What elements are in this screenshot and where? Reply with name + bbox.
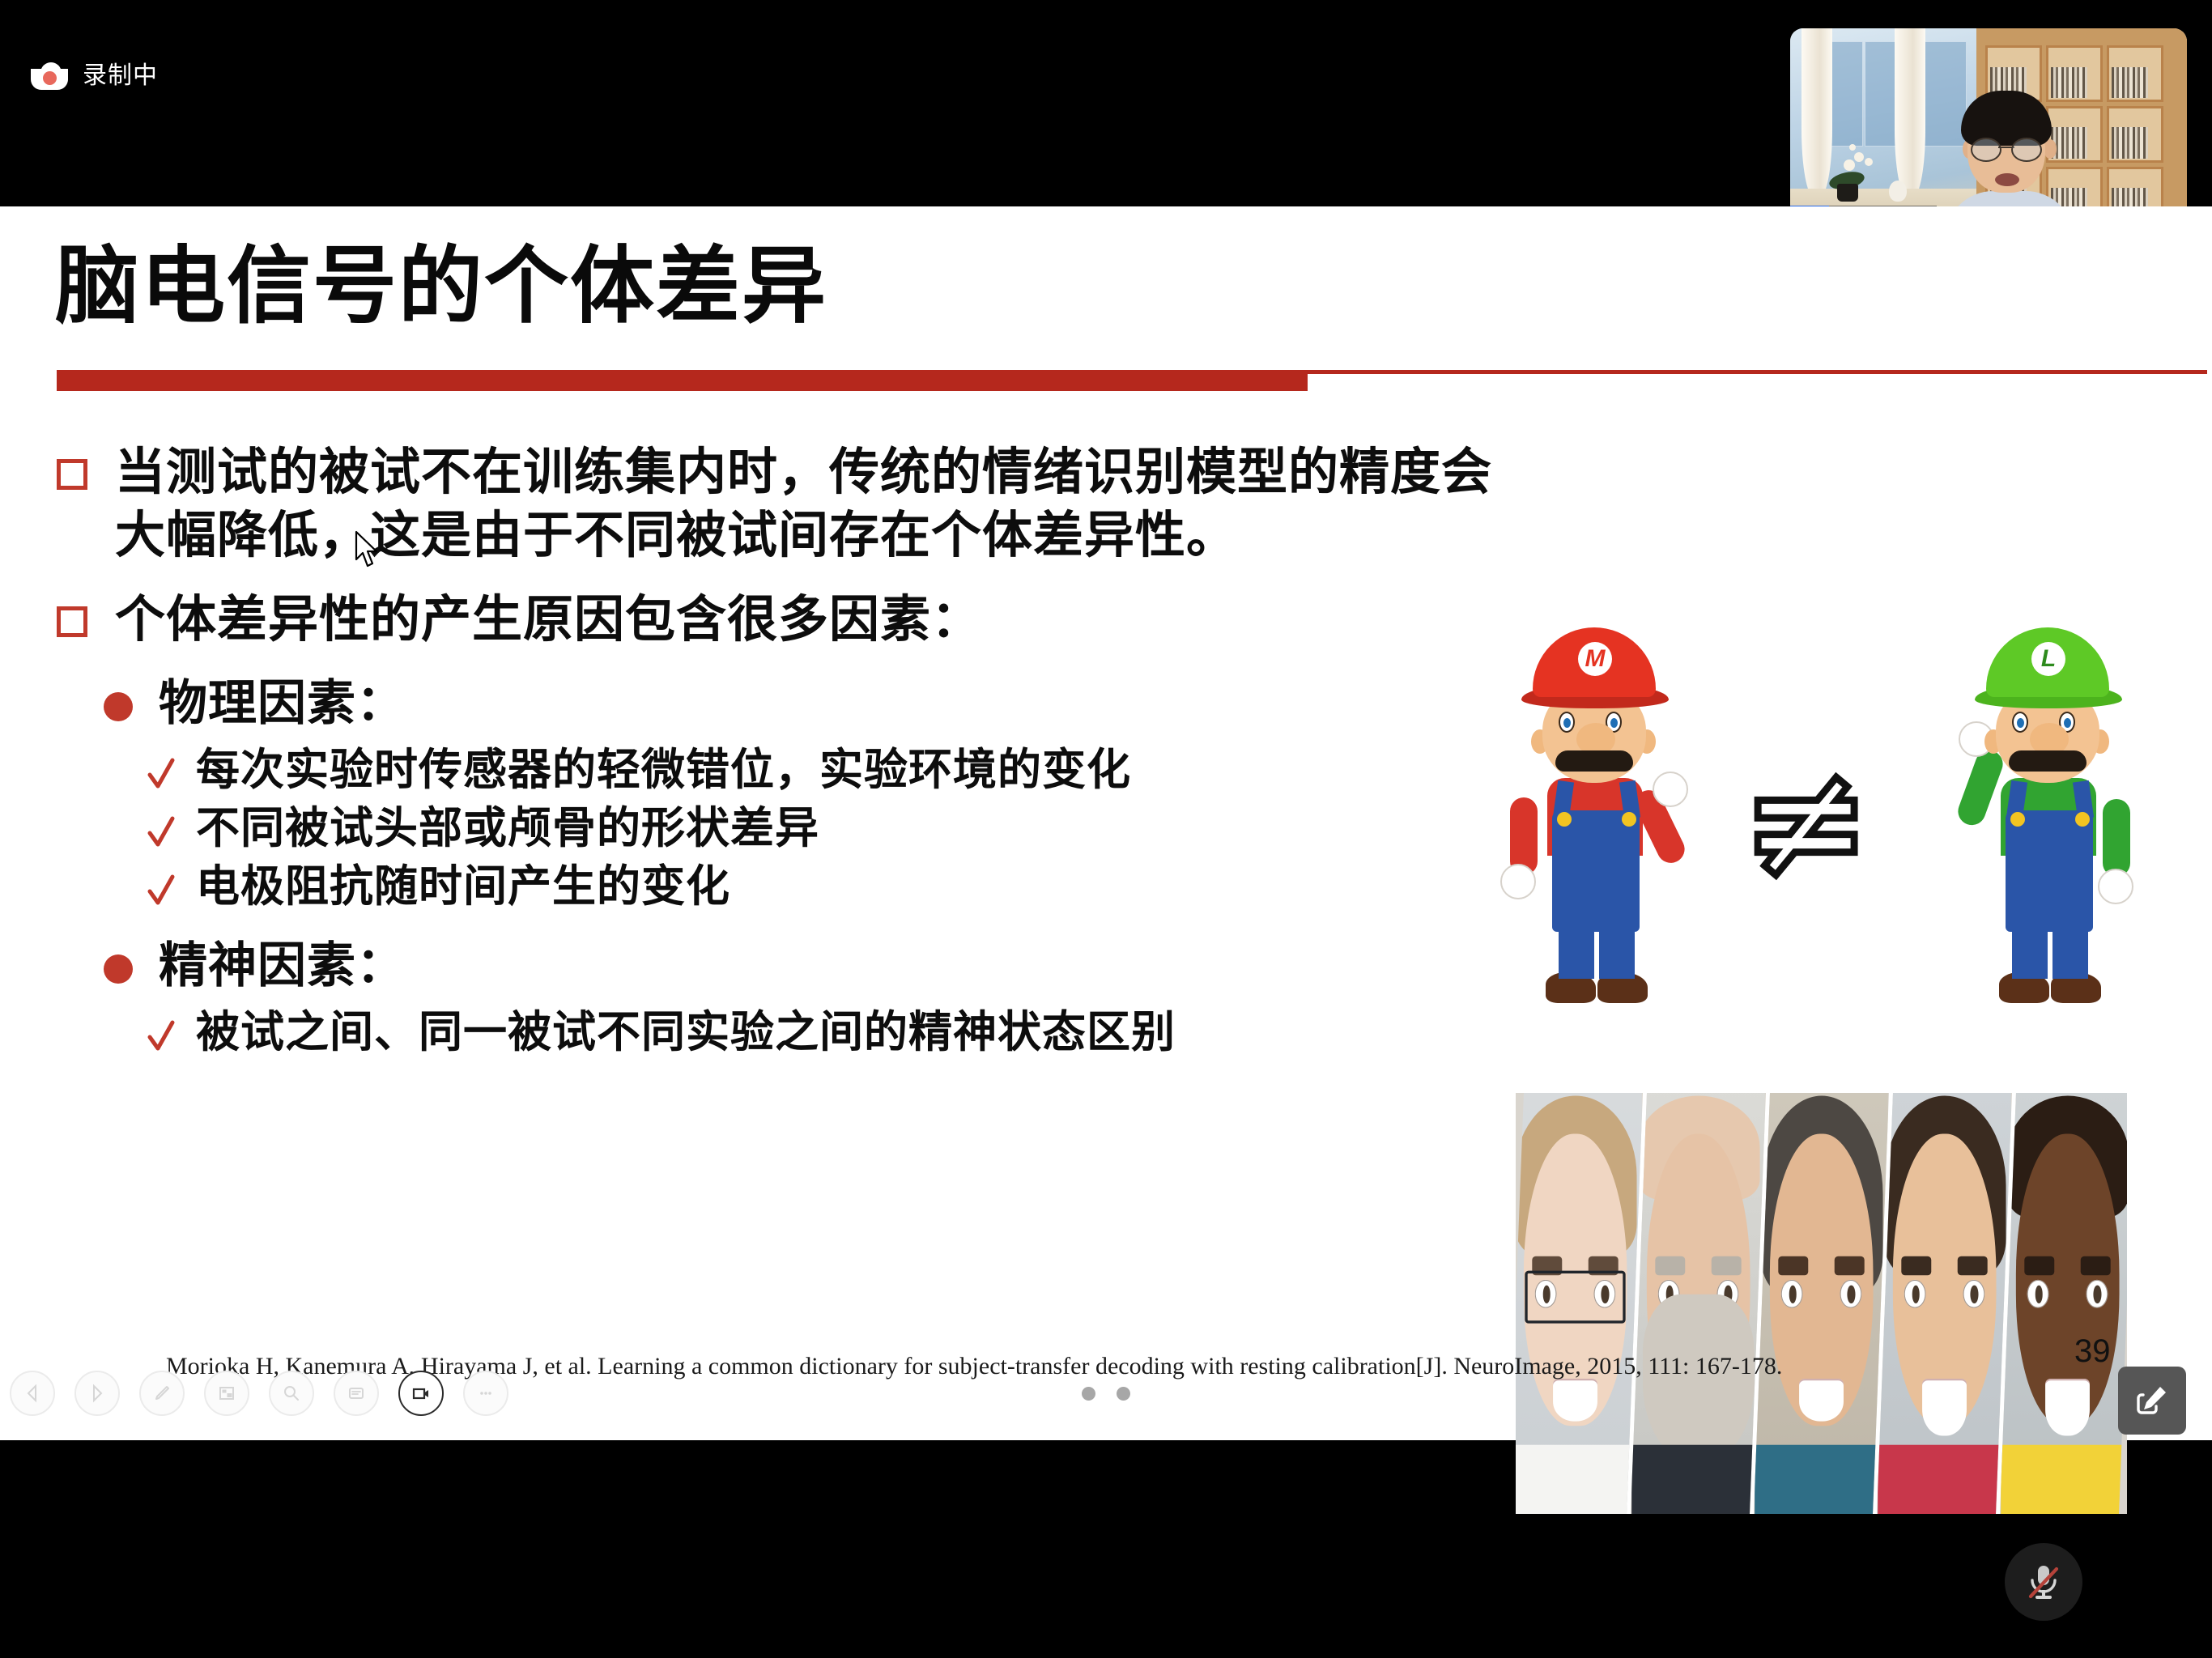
bullet-text: 精神因素：	[159, 937, 406, 995]
title-underline-thin	[1308, 370, 2207, 374]
recording-label: 录制中	[83, 64, 158, 88]
bullet-item-level3: 不同被试头部或颅骨的形状差异	[147, 802, 1506, 856]
pen-tool-button[interactable]	[139, 1371, 185, 1416]
next-slide-button[interactable]	[74, 1371, 120, 1416]
hollow-square-bullet-icon	[57, 459, 87, 490]
annotate-button[interactable]	[2118, 1367, 2186, 1435]
bullet-item-level3: 每次实验时传感器的轻微错位，实验环境的变化	[147, 744, 1506, 797]
face-panel	[1516, 1093, 1647, 1514]
slide-toolbar	[0, 1364, 2212, 1435]
bullet-text: 被试之间、同一被试不同实验之间的精神状态区别	[196, 1006, 1176, 1060]
slide-grid-button[interactable]	[204, 1371, 249, 1416]
check-bullet-icon	[147, 872, 175, 909]
notes-button[interactable]	[334, 1371, 379, 1416]
title-underline-thick	[57, 370, 1308, 391]
bullet-item-level1: 当测试的被试不在训练集内时，传统的情绪识别模型的精度会大幅降低，这是由于不同被试…	[57, 441, 1506, 568]
bullet-item-level3: 被试之间、同一被试不同实验之间的精神状态区别	[147, 1006, 1506, 1060]
page-dot[interactable]	[1082, 1387, 1095, 1401]
bullet-text: 物理因素：	[159, 674, 406, 733]
previous-slide-button[interactable]	[10, 1371, 55, 1416]
face-panel	[1754, 1093, 1893, 1514]
face-panel	[1631, 1093, 1770, 1514]
check-bullet-icon	[147, 814, 175, 851]
filled-circle-bullet-icon	[104, 954, 133, 984]
recording-indicator: 录制中	[31, 58, 158, 94]
cloud-record-icon	[31, 62, 68, 90]
not-equal-symbol: ≠	[1742, 745, 1870, 899]
bullet-text: 每次实验时传感器的轻微错位，实验环境的变化	[196, 744, 1131, 797]
bullet-item-level2: 物理因素：	[104, 674, 1506, 733]
zoom-button[interactable]	[269, 1371, 314, 1416]
slide-page-indicator[interactable]	[1082, 1387, 1130, 1401]
hollow-square-bullet-icon	[57, 606, 87, 637]
luigi-figure: L	[1955, 627, 2142, 1008]
page-dot[interactable]	[1117, 1387, 1130, 1401]
bullet-item-level1: 个体差异性的产生原因包含很多因素：	[57, 589, 1506, 652]
filled-circle-bullet-icon	[104, 692, 133, 721]
bullet-item-level3: 电极阻抗随时间产生的变化	[147, 861, 1506, 914]
more-options-button[interactable]	[463, 1371, 508, 1416]
face-panel	[1877, 1093, 2016, 1514]
page-title: 脑电信号的个体差异	[55, 240, 827, 333]
bullet-text: 个体差异性的产生原因包含很多因素：	[115, 589, 982, 652]
presentation-slide: 脑电信号的个体差异 当测试的被试不在训练集内时，传统的情绪识别模型的精度会大幅降…	[0, 206, 2212, 1440]
mario-cap-emblem: M	[1578, 642, 1612, 676]
bullet-text: 电极阻抗随时间产生的变化	[196, 861, 730, 914]
luigi-cap-emblem: L	[2031, 642, 2065, 676]
slide-bullet-list: 当测试的被试不在训练集内时，传统的情绪识别模型的精度会大幅降低，这是由于不同被试…	[57, 441, 1506, 1065]
mario-luigi-comparison-image: M ≠ L	[1502, 595, 2142, 1008]
mute-button[interactable]	[2005, 1543, 2082, 1621]
bullet-item-level2: 精神因素：	[104, 937, 1506, 995]
check-bullet-icon	[147, 1018, 175, 1055]
bullet-text: 不同被试头部或颅骨的形状差异	[196, 802, 819, 856]
diverse-faces-image	[1516, 1093, 2127, 1514]
face-panel	[2000, 1093, 2127, 1514]
mouse-cursor	[354, 530, 381, 569]
mario-figure: M	[1502, 627, 1688, 1008]
bullet-text: 当测试的被试不在训练集内时，传统的情绪识别模型的精度会大幅降低，这是由于不同被试…	[115, 441, 1506, 568]
meeting-screen-share-view: 录制中	[0, 0, 2212, 1658]
check-bullet-icon	[147, 755, 175, 793]
camera-button[interactable]	[398, 1371, 444, 1416]
